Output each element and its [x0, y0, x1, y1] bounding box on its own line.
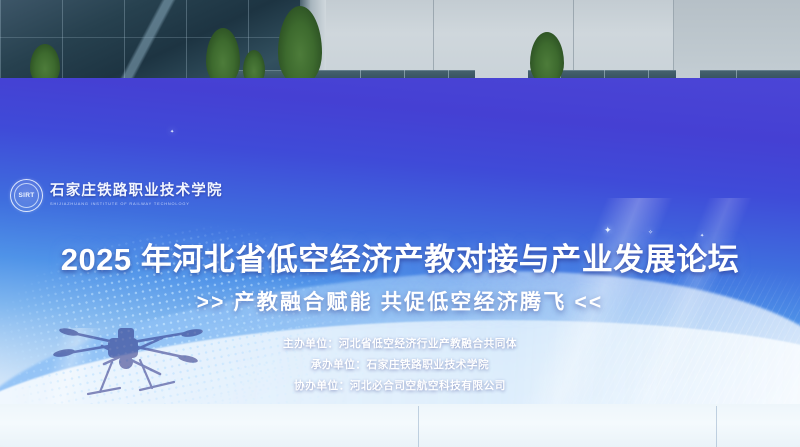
emblem-initials: SIRT — [14, 183, 39, 208]
wall-below-banner — [0, 404, 800, 447]
organizer-list: 主办单位：河北省低空经济行业产教融合共同体 承办单位：石家庄铁路职业技术学院 协… — [0, 334, 800, 397]
organizer-line-host: 主办单位：河北省低空经济行业产教融合共同体 — [0, 334, 800, 355]
wall-panel-seam — [716, 406, 717, 447]
organizer-line-undertaker: 承办单位：石家庄铁路职业技术学院 — [0, 355, 800, 376]
banner-title: 2025 年河北省低空经济产教对接与产业发展论坛 — [0, 234, 800, 279]
university-name-en: SHIJIAZHUANG INSTITUTE OF RAILWAY TECHNO… — [50, 202, 223, 206]
event-banner: ✦ ✧ ✦ ✦ SIRT 石家庄铁路职业技术学院 SHIJIAZHUANG IN… — [0, 78, 800, 408]
university-logo: SIRT 石家庄铁路职业技术学院 SHIJIAZHUANG INSTITUTE … — [10, 179, 223, 212]
screenshot-root: ✦ ✧ ✦ ✦ SIRT 石家庄铁路职业技术学院 SHIJIAZHUANG IN… — [0, 0, 800, 447]
sparkle-icon: ✦ — [170, 130, 174, 135]
building-facade — [0, 0, 800, 84]
university-name-cn: 石家庄铁路职业技术学院 — [50, 184, 223, 200]
banner-subtitle: >> 产教融合赋能 共促低空经济腾飞 << — [0, 286, 800, 316]
university-emblem-icon: SIRT — [10, 179, 43, 212]
wall-panel-seam — [418, 406, 419, 447]
organizer-line-coorganizer: 协办单位：河北必合司空航空科技有限公司 — [0, 376, 800, 397]
